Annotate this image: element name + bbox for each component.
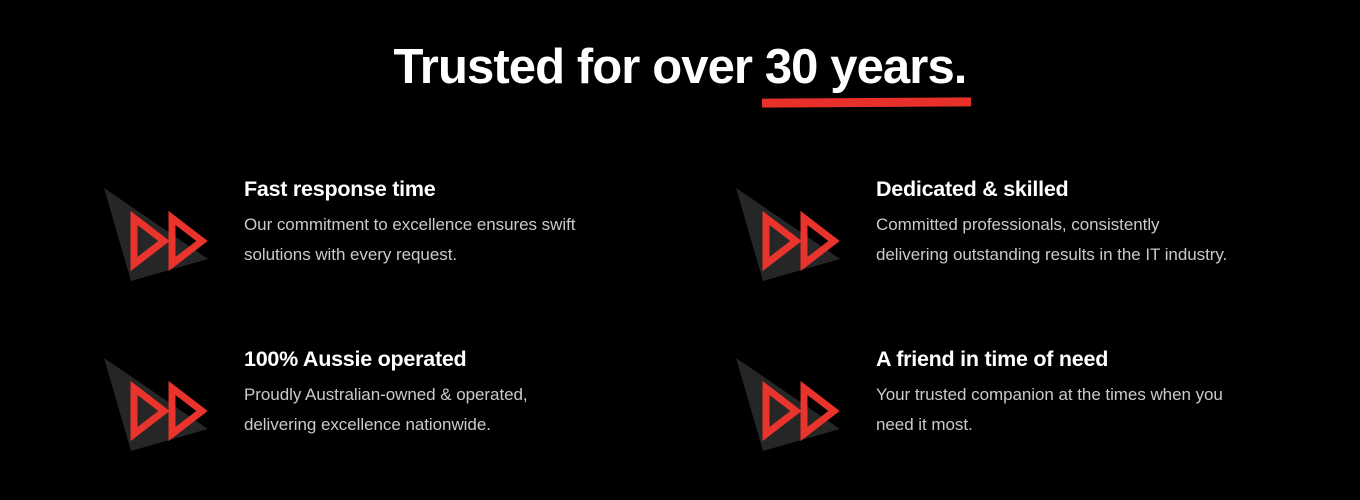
feature-title: Dedicated & skilled (876, 176, 1230, 202)
feature-body: Dedicated & skilled Committed profession… (850, 162, 1230, 270)
fast-forward-icon (730, 174, 850, 286)
feature-body: Fast response time Our commitment to exc… (218, 162, 598, 270)
feature-title: A friend in time of need (876, 346, 1230, 372)
feature-description: Our commitment to excellence ensures swi… (244, 210, 598, 270)
feature-grid: Fast response time Our commitment to exc… (0, 162, 1360, 472)
feature-body: A friend in time of need Your trusted co… (850, 332, 1230, 440)
feature-item: A friend in time of need Your trusted co… (730, 332, 1230, 456)
feature-description: Proudly Australian-owned & operated, del… (244, 380, 598, 440)
trusted-section: Trusted for over 30 years. Fast response… (0, 0, 1360, 500)
feature-item: Dedicated & skilled Committed profession… (730, 162, 1230, 286)
fast-forward-icon (730, 344, 850, 456)
feature-item: Fast response time Our commitment to exc… (98, 162, 598, 286)
feature-item: 100% Aussie operated Proudly Australian-… (98, 332, 598, 456)
feature-description: Committed professionals, consistently de… (876, 210, 1230, 270)
red-underline-accent (762, 97, 971, 107)
fast-forward-icon (98, 344, 218, 456)
page-title: Trusted for over 30 years. (393, 38, 966, 96)
page-title-lead: Trusted for over (393, 40, 764, 94)
page-title-highlight-wrap: 30 years. (765, 38, 967, 96)
feature-description: Your trusted companion at the times when… (876, 380, 1230, 440)
fast-forward-icon (98, 174, 218, 286)
feature-title: Fast response time (244, 176, 598, 202)
page-title-container: Trusted for over 30 years. (0, 38, 1360, 96)
feature-body: 100% Aussie operated Proudly Australian-… (218, 332, 598, 440)
page-title-highlight: 30 years. (765, 40, 967, 94)
feature-title: 100% Aussie operated (244, 346, 598, 372)
